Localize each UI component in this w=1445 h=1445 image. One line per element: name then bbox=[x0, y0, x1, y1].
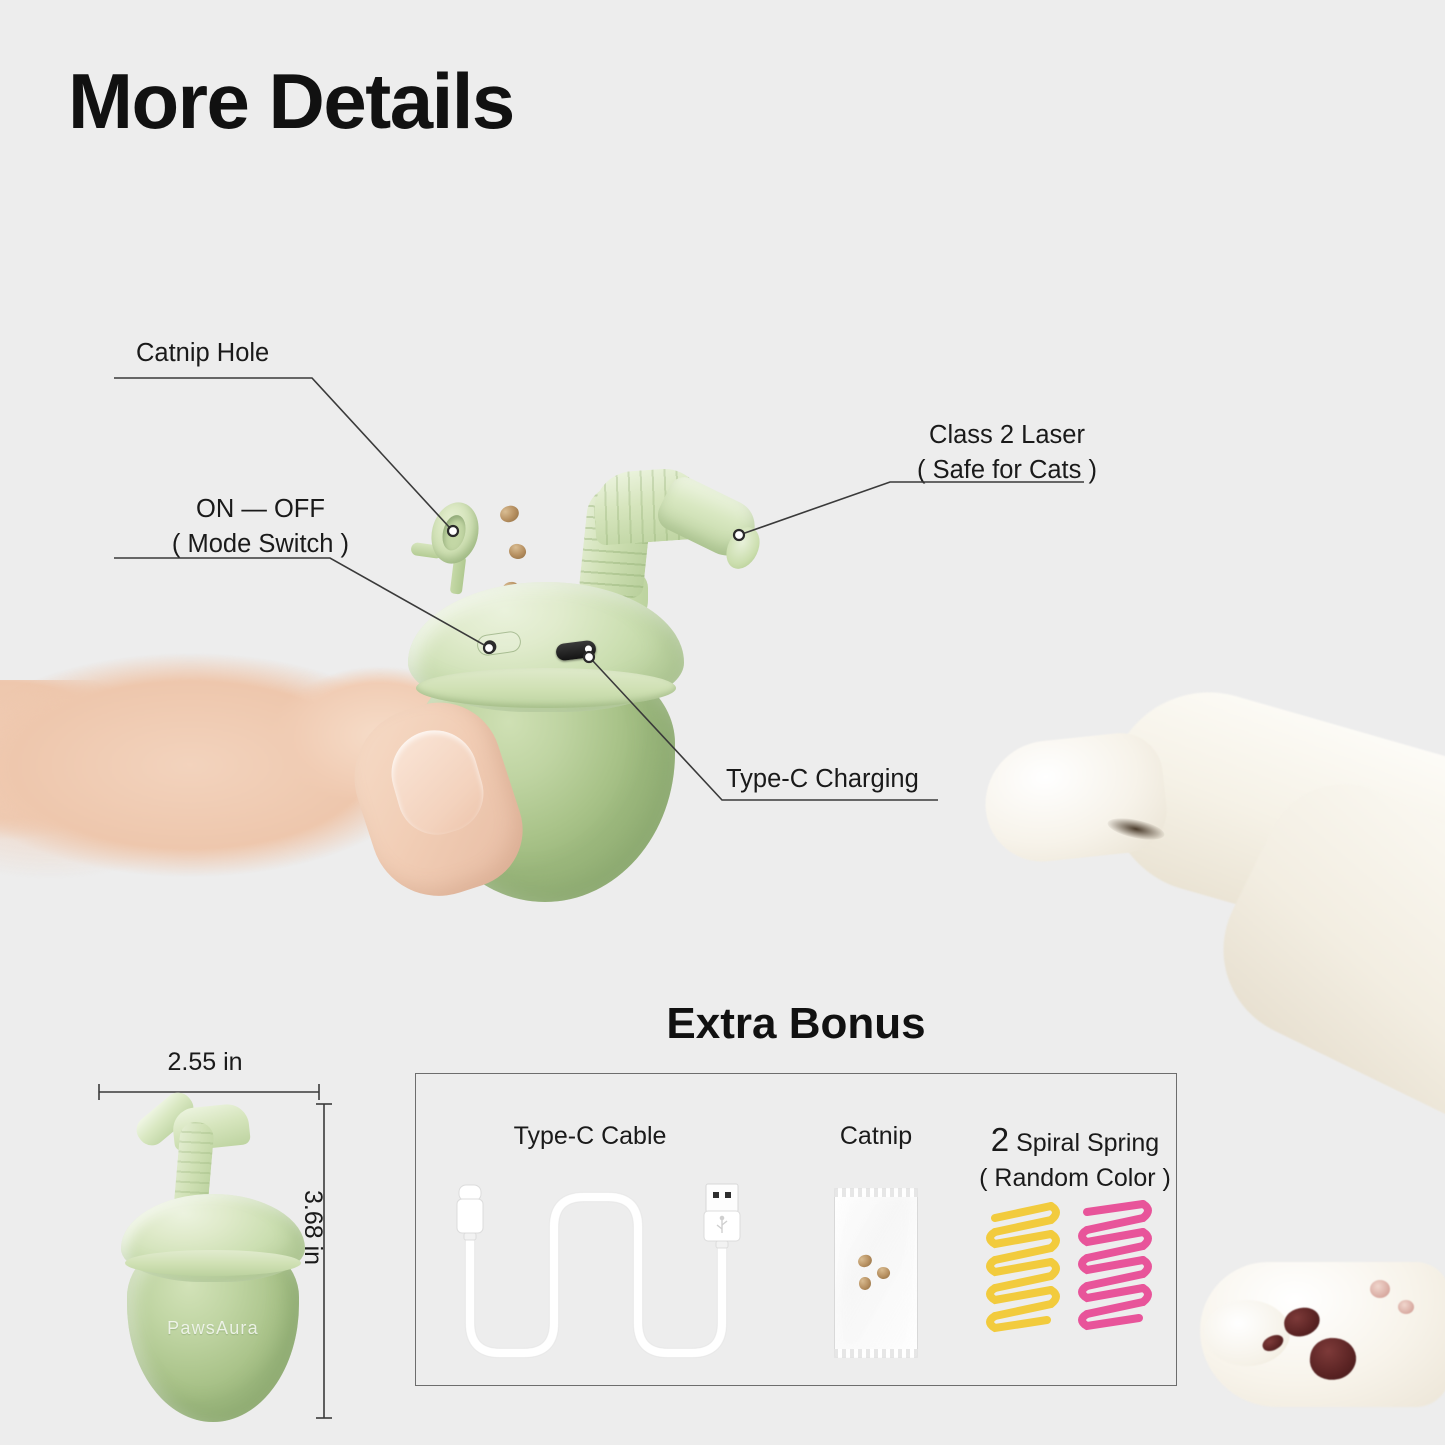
dimension-width-label: 2.55 in bbox=[95, 1048, 315, 1077]
cat-paw-nub bbox=[1370, 1280, 1390, 1298]
bonus-item-spring-name: Spiral Spring bbox=[1016, 1129, 1159, 1157]
bonus-item-spring-count: 2 bbox=[991, 1121, 1009, 1158]
brand-logo: PawsAura bbox=[127, 1318, 299, 1339]
device-cap-rim bbox=[416, 668, 676, 708]
mini-device-illustration: PawsAura bbox=[113, 1098, 313, 1428]
catnip-bag bbox=[834, 1188, 918, 1358]
extra-bonus-title: Extra Bonus bbox=[415, 999, 1177, 1049]
catnip-seed bbox=[858, 1276, 871, 1290]
spiral-spring-pink bbox=[1082, 1204, 1148, 1326]
dimension-block: 2.55 in 3.68 in PawsAura bbox=[95, 1040, 375, 1440]
callout-laser-label: Class 2 Laser ( Safe for Cats ) bbox=[878, 418, 1136, 488]
type-c-cable-illustration bbox=[440, 1183, 780, 1368]
callout-laser-line1: Class 2 Laser bbox=[878, 418, 1136, 453]
spiral-spring-yellow bbox=[990, 1206, 1056, 1328]
cat-toe bbox=[979, 729, 1171, 867]
callout-mode-switch-line2: ( Mode Switch ) bbox=[108, 527, 413, 562]
callout-type-c-label: Type-C Charging bbox=[726, 762, 919, 797]
catnip-pellet bbox=[498, 504, 521, 525]
infographic-canvas: More Details bbox=[0, 0, 1445, 1445]
cat-paw-lower bbox=[1180, 1252, 1445, 1445]
usb-a-connector bbox=[704, 1184, 740, 1248]
bonus-item-spring-line1: 2 Spiral Spring bbox=[960, 1118, 1190, 1162]
callout-laser-line2: ( Safe for Cats ) bbox=[878, 453, 1136, 488]
callout-mode-switch-label: ON — OFF ( Mode Switch ) bbox=[108, 492, 413, 562]
callout-mode-switch-line1: ON — OFF bbox=[108, 492, 413, 527]
bonus-item-cable-label: Type-C Cable bbox=[440, 1120, 740, 1154]
page-title: More Details bbox=[68, 62, 514, 140]
catnip-pellet bbox=[507, 542, 528, 562]
catnip-seed bbox=[856, 1253, 873, 1269]
bonus-item-catnip-label: Catnip bbox=[806, 1120, 946, 1154]
cat-paw-nub bbox=[1398, 1300, 1414, 1314]
bonus-item-spring-label: 2 Spiral Spring ( Random Color ) bbox=[960, 1118, 1190, 1196]
catnip-seed bbox=[876, 1265, 892, 1280]
usb-c-connector bbox=[457, 1185, 483, 1240]
cat-paw-toe bbox=[1204, 1300, 1290, 1366]
spiral-springs-illustration bbox=[985, 1190, 1165, 1360]
mini-device-rim bbox=[125, 1250, 301, 1276]
callout-catnip-hole-label: Catnip Hole bbox=[136, 336, 269, 371]
